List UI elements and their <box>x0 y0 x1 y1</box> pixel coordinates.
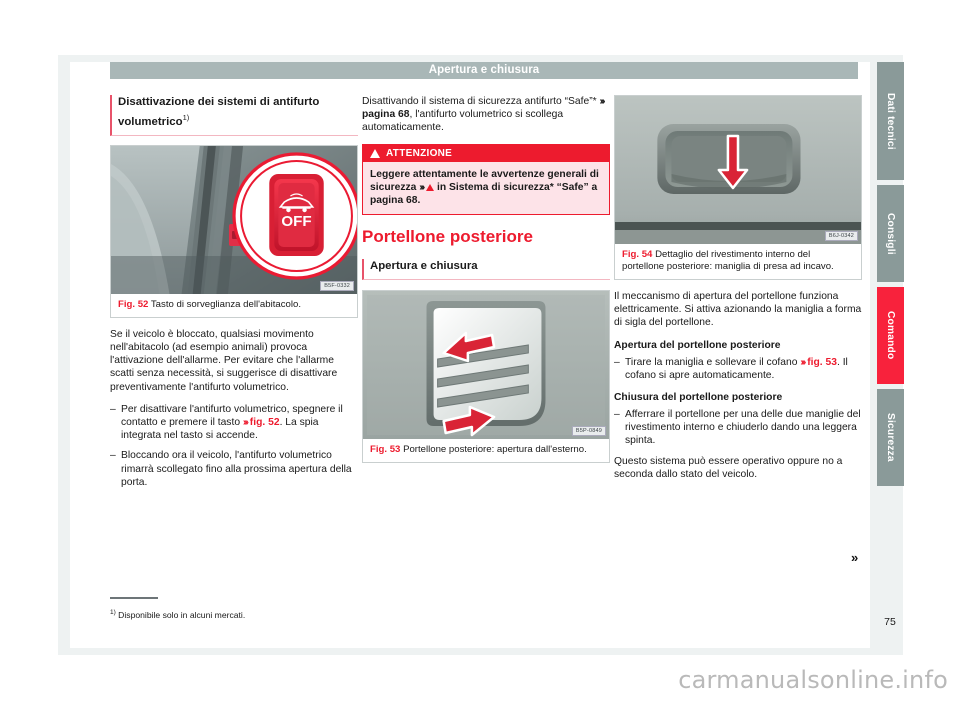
tab-label: Sicurezza <box>885 413 896 462</box>
bullet-dash: – <box>614 356 620 369</box>
warning-header: ATTENZIONE <box>363 145 609 162</box>
figure-53: B5P-0849 Fig. 53 Portellone posteriore: … <box>362 290 610 463</box>
bullet-tailgate-close: – Afferrare il portellone per una delle … <box>614 408 862 448</box>
figure-53-caption: Fig. 53 Portellone posteriore: apertura … <box>363 439 609 462</box>
figure-52-label: Fig. 52 <box>118 299 148 310</box>
warning-body: Leggere attentamente le avvertenze gener… <box>363 162 609 215</box>
footnote-text: Disponibile solo in alcuni mercati. <box>118 610 245 620</box>
footnote: 1) Disponibile solo in alcuni mercati. <box>110 607 410 621</box>
figure-52-caption: Fig. 52 Tasto di sorveglianza dell'abita… <box>111 294 357 317</box>
figure-53-label: Fig. 53 <box>370 444 400 455</box>
sidebar-item-comando[interactable]: Comando <box>877 287 904 384</box>
figure-53-image: B5P-0849 <box>363 291 609 439</box>
bullet-dash: – <box>110 449 116 462</box>
figure-53-caption-text: Portellone posteriore: apertura dall'est… <box>403 444 587 455</box>
bullet-tailgate-open: – Tirare la maniglia e sollevare il cofa… <box>614 356 862 382</box>
sidebar-item-consigli[interactable]: Consigli <box>877 185 904 282</box>
sidebar-item-dati-tecnici[interactable]: Dati tecnici <box>877 62 904 180</box>
warning-triangle-small-icon <box>426 184 434 191</box>
footnote-marker: 1) <box>110 609 116 616</box>
figure-54-image: B6J-0342 <box>615 96 861 244</box>
column-right: B6J-0342 Fig. 54 Dettaglio del rivestime… <box>614 95 862 490</box>
figure-52: OFF B5F-0332 Fig. 52 Tasto di sorveglian… <box>110 145 358 318</box>
chevron-ref-icon: ››› <box>419 182 423 193</box>
column-middle: Disattivando il sistema di sicurezza ant… <box>362 95 610 473</box>
section-title-tailgate: Portellone posteriore <box>362 227 610 247</box>
chevron-ref-icon: ››› <box>243 417 247 428</box>
bullet-dash: – <box>614 408 620 421</box>
bullet-deactivate-ref: fig. 52 <box>250 417 280 428</box>
paragraph-antitheft-intro: Se il veicolo è bloccato, qualsiasi movi… <box>110 328 358 394</box>
figure-54: B6J-0342 Fig. 54 Dettaglio del rivestime… <box>614 95 862 280</box>
section-heading-antitheft: Disattivazione dei sistemi di antifurto … <box>110 95 358 136</box>
figure-53-image-code: B5P-0849 <box>572 426 606 436</box>
svg-text:OFF: OFF <box>281 213 311 230</box>
footnote-divider <box>110 597 158 599</box>
chevron-ref-icon: ››› <box>800 357 804 368</box>
figure-52-image-code: B5F-0332 <box>320 281 354 291</box>
bullet-deactivate: – Per disattivare l'antifurto volumetric… <box>110 403 358 443</box>
pdf-viewer: Apertura e chiusura Disattivazione dei s… <box>0 0 960 708</box>
figure-52-image: OFF B5F-0332 <box>111 146 357 294</box>
bullet-open-text-a: Tirare la maniglia e sollevare il cofano <box>625 357 800 368</box>
footnote-marker-1: 1) <box>183 113 190 122</box>
section-heading-text: Disattivazione dei sistemi di antifurto … <box>118 96 319 128</box>
tailgate-handle-illustration <box>363 291 609 439</box>
paragraph-safe-system: Disattivando il sistema di sicurezza ant… <box>362 95 610 135</box>
paragraph-safe-text-a: Disattivando il sistema di sicurezza ant… <box>362 96 600 107</box>
bullet-open-ref: fig. 53 <box>807 357 837 368</box>
interior-monitoring-button-illustration: OFF <box>111 146 357 294</box>
figure-54-label: Fig. 54 <box>622 249 652 260</box>
figure-52-caption-text: Tasto di sorveglianza dell'abitacolo. <box>151 299 301 310</box>
chevron-ref-icon: ››› <box>600 96 604 107</box>
sidebar-item-sicurezza[interactable]: Sicurezza <box>877 389 904 486</box>
watermark: carmanualsonline.info <box>0 666 960 694</box>
page-number: 75 <box>876 616 904 628</box>
page-header-title: Apertura e chiusura <box>110 62 858 79</box>
heading-tailgate-close: Chiusura del portellone posteriore <box>614 391 862 404</box>
subsection-title-opening-closing: Apertura e chiusura <box>362 259 610 280</box>
tab-label: Dati tecnici <box>885 93 896 150</box>
bullet-lock-vehicle-text: Bloccando ora il veicolo, l'antifurto vo… <box>121 450 352 487</box>
bullet-dash: – <box>110 403 116 416</box>
column-left: Disattivazione dei sistemi di antifurto … <box>110 95 358 496</box>
paragraph-system-state: Questo sistema può essere operativo oppu… <box>614 455 862 481</box>
warning-triangle-icon <box>370 149 380 158</box>
warning-box: ATTENZIONE Leggere attentamente le avver… <box>362 144 610 216</box>
figure-54-image-code: B6J-0342 <box>825 231 858 241</box>
heading-tailgate-open: Apertura del portellone posteriore <box>614 339 862 352</box>
figure-54-caption-text: Dettaglio del rivestimento interno del p… <box>622 249 834 272</box>
figure-54-caption: Fig. 54 Dettaglio del rivestimento inter… <box>615 244 861 279</box>
bullet-lock-vehicle: – Bloccando ora il veicolo, l'antifurto … <box>110 449 358 489</box>
tailgate-inner-grab-handle-illustration <box>615 96 861 244</box>
paragraph-tailgate-mechanism: Il meccanismo di apertura del portellone… <box>614 290 862 330</box>
warning-title: ATTENZIONE <box>386 148 452 159</box>
side-tab-bar: Dati tecnici Consigli Comando Sicurezza <box>877 62 904 491</box>
continuation-marker: » <box>851 550 855 565</box>
tab-label: Comando <box>885 311 896 359</box>
paragraph-safe-ref: pagina 68 <box>362 109 410 120</box>
bullet-close-text: Afferrare il portellone per una delle du… <box>625 409 861 446</box>
tab-label: Consigli <box>885 213 896 255</box>
